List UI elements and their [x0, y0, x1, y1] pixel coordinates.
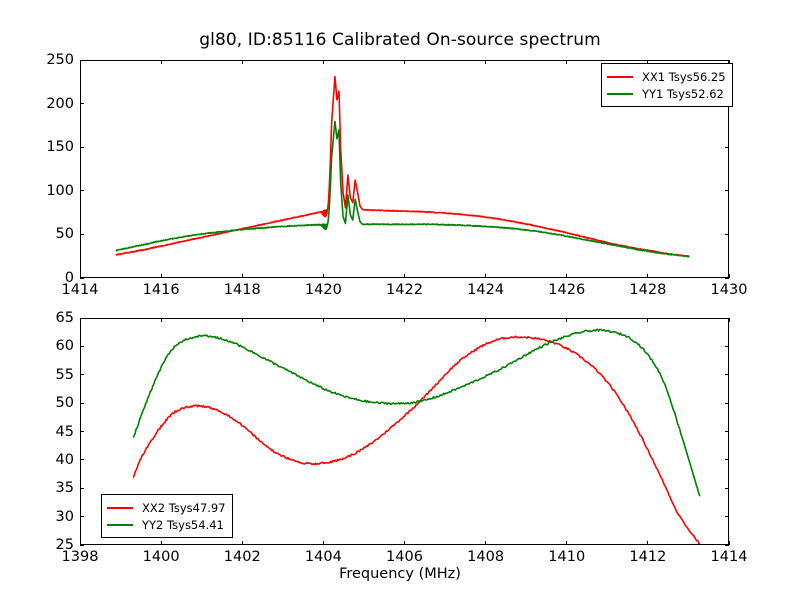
x-tick-label: 1406 [386, 549, 423, 565]
legend-label-yy1: YY1 Tsys52.62 [642, 87, 724, 101]
y-tick-mark [725, 190, 729, 191]
x-tick-mark [161, 60, 162, 64]
y-tick-mark [725, 488, 729, 489]
y-tick-mark [725, 374, 729, 375]
x-tick-mark [80, 318, 81, 322]
x-tick-mark [566, 318, 567, 322]
y-tick-label: 200 [34, 96, 74, 112]
x-tick-mark [647, 274, 648, 278]
x-tick-mark [647, 318, 648, 322]
y-tick-label: 0 [34, 270, 74, 286]
y-tick-label: 60 [34, 338, 74, 354]
x-tick-label: 1424 [467, 282, 504, 298]
y-tick-mark [80, 234, 84, 235]
y-tick-mark [80, 318, 84, 319]
x-tick-label: 1412 [629, 549, 666, 565]
bottom-x-axis-title: Frequency (MHz) [0, 566, 800, 582]
y-tick-mark [725, 278, 729, 279]
y-tick-label: 35 [34, 480, 74, 496]
legend-color-swatch-xx2 [107, 507, 133, 509]
y-tick-label: 65 [34, 310, 74, 326]
x-tick-mark [161, 318, 162, 322]
y-tick-mark [80, 147, 84, 148]
x-tick-label: 1416 [143, 282, 180, 298]
x-tick-mark [242, 541, 243, 545]
x-tick-label: 1402 [224, 549, 261, 565]
x-tick-mark [323, 60, 324, 64]
x-tick-mark [242, 318, 243, 322]
y-tick-mark [80, 278, 84, 279]
y-tick-label: 55 [34, 367, 74, 383]
x-tick-label: 1430 [711, 282, 748, 298]
x-tick-mark [242, 274, 243, 278]
x-tick-mark [404, 60, 405, 64]
x-tick-mark [566, 541, 567, 545]
y-tick-mark [725, 431, 729, 432]
top-legend: XX1 Tsys56.25 YY1 Tsys52.62 [601, 63, 733, 107]
y-tick-mark [80, 403, 84, 404]
legend-item: YY1 Tsys52.62 [607, 85, 726, 102]
x-tick-label: 1420 [305, 282, 342, 298]
legend-item: XX1 Tsys56.25 [607, 68, 726, 85]
y-tick-mark [725, 403, 729, 404]
x-tick-label: 1428 [629, 282, 666, 298]
y-tick-label: 25 [34, 537, 74, 553]
x-tick-mark [161, 274, 162, 278]
x-tick-label: 1422 [386, 282, 423, 298]
bottom-legend: XX2 Tsys47.97 YY2 Tsys54.41 [101, 494, 233, 538]
x-tick-label: 1414 [711, 549, 748, 565]
y-tick-mark [80, 60, 84, 61]
y-tick-mark [80, 516, 84, 517]
x-tick-mark [485, 60, 486, 64]
y-tick-mark [725, 346, 729, 347]
x-tick-mark [80, 60, 81, 64]
y-tick-mark [80, 103, 84, 104]
x-tick-mark [404, 274, 405, 278]
y-tick-mark [80, 488, 84, 489]
legend-color-swatch-yy2 [107, 524, 133, 526]
legend-item: XX2 Tsys47.97 [107, 499, 226, 516]
x-tick-mark [323, 274, 324, 278]
series-line [117, 121, 689, 256]
y-tick-label: 30 [34, 509, 74, 525]
y-tick-label: 50 [34, 395, 74, 411]
y-tick-label: 100 [34, 183, 74, 199]
y-tick-label: 45 [34, 424, 74, 440]
y-tick-mark [725, 147, 729, 148]
figure-canvas: gl80, ID:85116 Calibrated On-source spec… [0, 0, 800, 600]
x-tick-mark [323, 318, 324, 322]
x-tick-label: 1410 [548, 549, 585, 565]
y-tick-mark [80, 190, 84, 191]
x-tick-label: 1404 [305, 549, 342, 565]
x-tick-mark [566, 274, 567, 278]
y-tick-mark [80, 431, 84, 432]
y-tick-label: 40 [34, 452, 74, 468]
x-tick-mark [647, 541, 648, 545]
x-tick-label: 1426 [548, 282, 585, 298]
y-tick-mark [725, 60, 729, 61]
y-tick-mark [725, 234, 729, 235]
x-tick-mark [485, 274, 486, 278]
x-tick-mark [242, 60, 243, 64]
x-tick-mark [566, 60, 567, 64]
x-tick-label: 1408 [467, 549, 504, 565]
legend-label-xx1: XX1 Tsys56.25 [642, 70, 726, 84]
y-tick-mark [725, 516, 729, 517]
x-tick-mark [404, 318, 405, 322]
x-tick-label: 1418 [224, 282, 261, 298]
x-tick-mark [161, 541, 162, 545]
y-tick-mark [80, 545, 84, 546]
page-title: gl80, ID:85116 Calibrated On-source spec… [0, 30, 800, 50]
x-tick-mark [404, 541, 405, 545]
y-tick-mark [80, 459, 84, 460]
x-tick-mark [485, 541, 486, 545]
x-tick-mark [485, 318, 486, 322]
x-tick-mark [323, 541, 324, 545]
legend-label-xx2: XX2 Tsys47.97 [142, 501, 226, 515]
y-tick-mark [725, 318, 729, 319]
legend-color-swatch-yy1 [607, 93, 633, 95]
y-tick-mark [80, 346, 84, 347]
x-tick-label: 1400 [143, 549, 180, 565]
y-tick-mark [725, 545, 729, 546]
y-tick-label: 50 [34, 226, 74, 242]
legend-item: YY2 Tsys54.41 [107, 516, 226, 533]
y-tick-label: 150 [34, 139, 74, 155]
legend-label-yy2: YY2 Tsys54.41 [142, 518, 224, 532]
series-line [134, 329, 700, 495]
x-tick-mark [729, 318, 730, 322]
y-tick-mark [80, 374, 84, 375]
y-tick-label: 250 [34, 52, 74, 68]
legend-color-swatch-xx1 [607, 76, 633, 78]
y-tick-mark [725, 459, 729, 460]
